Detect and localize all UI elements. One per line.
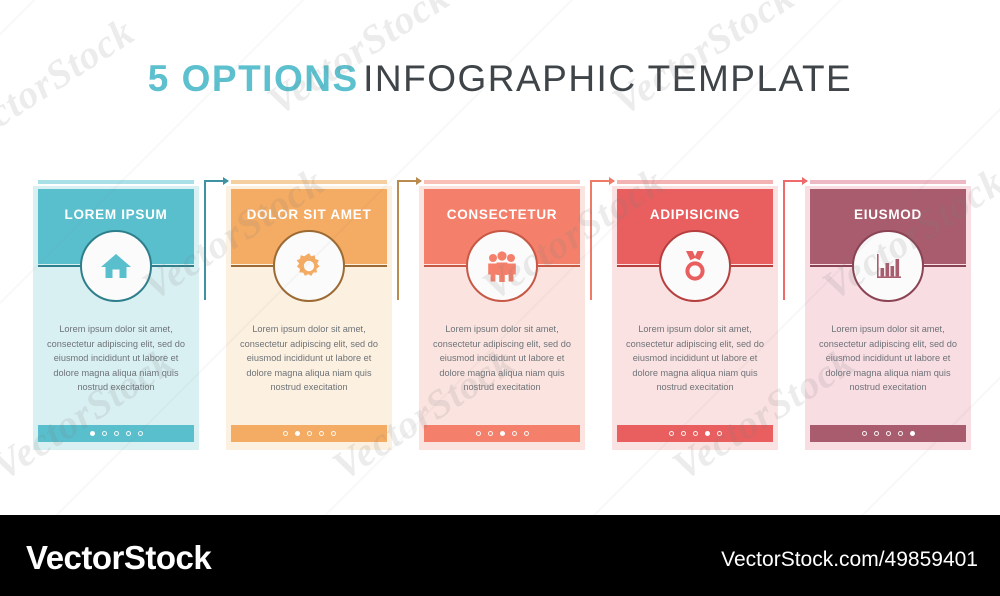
connector-vertical (590, 182, 592, 300)
arrowhead-icon (416, 177, 422, 185)
card-top-accent (810, 180, 966, 184)
step-dot-4[interactable] (512, 431, 517, 436)
card-step-indicator (617, 425, 773, 442)
step-dot-3[interactable] (500, 431, 505, 436)
card-title: LOREM IPSUM (38, 207, 194, 222)
arrowhead-icon (802, 177, 808, 185)
step-dot-1[interactable] (283, 431, 288, 436)
connector-horizontal (204, 180, 228, 182)
card-step-indicator (424, 425, 580, 442)
watermark-bar: VectorStock VectorStock.com/49859401 (0, 515, 1000, 596)
step-dot-1[interactable] (862, 431, 867, 436)
card-step-indicator (38, 425, 194, 442)
connector-horizontal (783, 180, 807, 182)
card-title: DOLOR SIT AMET (231, 207, 387, 222)
step-dot-4[interactable] (126, 431, 131, 436)
step-dot-2[interactable] (102, 431, 107, 436)
card-top-accent (617, 180, 773, 184)
step-dot-5[interactable] (717, 431, 722, 436)
step-dot-4[interactable] (319, 431, 324, 436)
option-card-5[interactable]: EIUSMODLorem ipsum dolor sit amet, conse… (805, 180, 971, 450)
medal-icon (679, 249, 711, 283)
step-dot-3[interactable] (693, 431, 698, 436)
card-step-indicator (231, 425, 387, 442)
step-dot-2[interactable] (488, 431, 493, 436)
card-top-accent (424, 180, 580, 184)
step-dot-5[interactable] (524, 431, 529, 436)
vectorstock-url: VectorStock.com/49859401 (721, 548, 978, 572)
connector-horizontal (590, 180, 614, 182)
step-dot-4[interactable] (898, 431, 903, 436)
connector-vertical (783, 182, 785, 300)
step-dot-1[interactable] (669, 431, 674, 436)
connector-vertical (397, 182, 399, 300)
option-card-3[interactable]: CONSECTETURLorem ipsum dolor sit amet, c… (419, 180, 585, 450)
connector-vertical (204, 182, 206, 300)
step-dot-1[interactable] (476, 431, 481, 436)
people-icon (484, 250, 520, 282)
vectorstock-logo: VectorStock (26, 539, 211, 577)
step-dot-2[interactable] (874, 431, 879, 436)
step-dot-3[interactable] (886, 431, 891, 436)
infographic-board: LOREM IPSUMLorem ipsum dolor sit amet, c… (0, 0, 1000, 515)
step-dot-5[interactable] (138, 431, 143, 436)
card-top-accent (231, 180, 387, 184)
card-icon-badge (466, 230, 538, 302)
step-dot-5[interactable] (910, 431, 915, 436)
step-dot-1[interactable] (90, 431, 95, 436)
card-body-text: Lorem ipsum dolor sit amet, consectetur … (813, 322, 963, 395)
step-dot-5[interactable] (331, 431, 336, 436)
card-title: EIUSMOD (810, 207, 966, 222)
card-icon-badge (852, 230, 924, 302)
step-dot-4[interactable] (705, 431, 710, 436)
card-icon-badge (659, 230, 731, 302)
step-dot-3[interactable] (307, 431, 312, 436)
card-body-text: Lorem ipsum dolor sit amet, consectetur … (41, 322, 191, 395)
gear-icon (293, 250, 325, 282)
bar-chart-icon (872, 250, 904, 282)
card-step-indicator (810, 425, 966, 442)
option-card-1[interactable]: LOREM IPSUMLorem ipsum dolor sit amet, c… (33, 180, 199, 450)
option-card-2[interactable]: DOLOR SIT AMETLorem ipsum dolor sit amet… (226, 180, 392, 450)
card-icon-badge (80, 230, 152, 302)
card-body-text: Lorem ipsum dolor sit amet, consectetur … (234, 322, 384, 395)
step-dot-3[interactable] (114, 431, 119, 436)
step-dot-2[interactable] (681, 431, 686, 436)
connector-horizontal (397, 180, 421, 182)
card-top-accent (38, 180, 194, 184)
card-body-text: Lorem ipsum dolor sit amet, consectetur … (427, 322, 577, 395)
arrowhead-icon (223, 177, 229, 185)
card-icon-badge (273, 230, 345, 302)
arrowhead-icon (609, 177, 615, 185)
step-dot-2[interactable] (295, 431, 300, 436)
card-body-text: Lorem ipsum dolor sit amet, consectetur … (620, 322, 770, 395)
option-card-4[interactable]: ADIPISICINGLorem ipsum dolor sit amet, c… (612, 180, 778, 450)
home-icon (99, 249, 133, 283)
card-title: ADIPISICING (617, 207, 773, 222)
card-title: CONSECTETUR (424, 207, 580, 222)
